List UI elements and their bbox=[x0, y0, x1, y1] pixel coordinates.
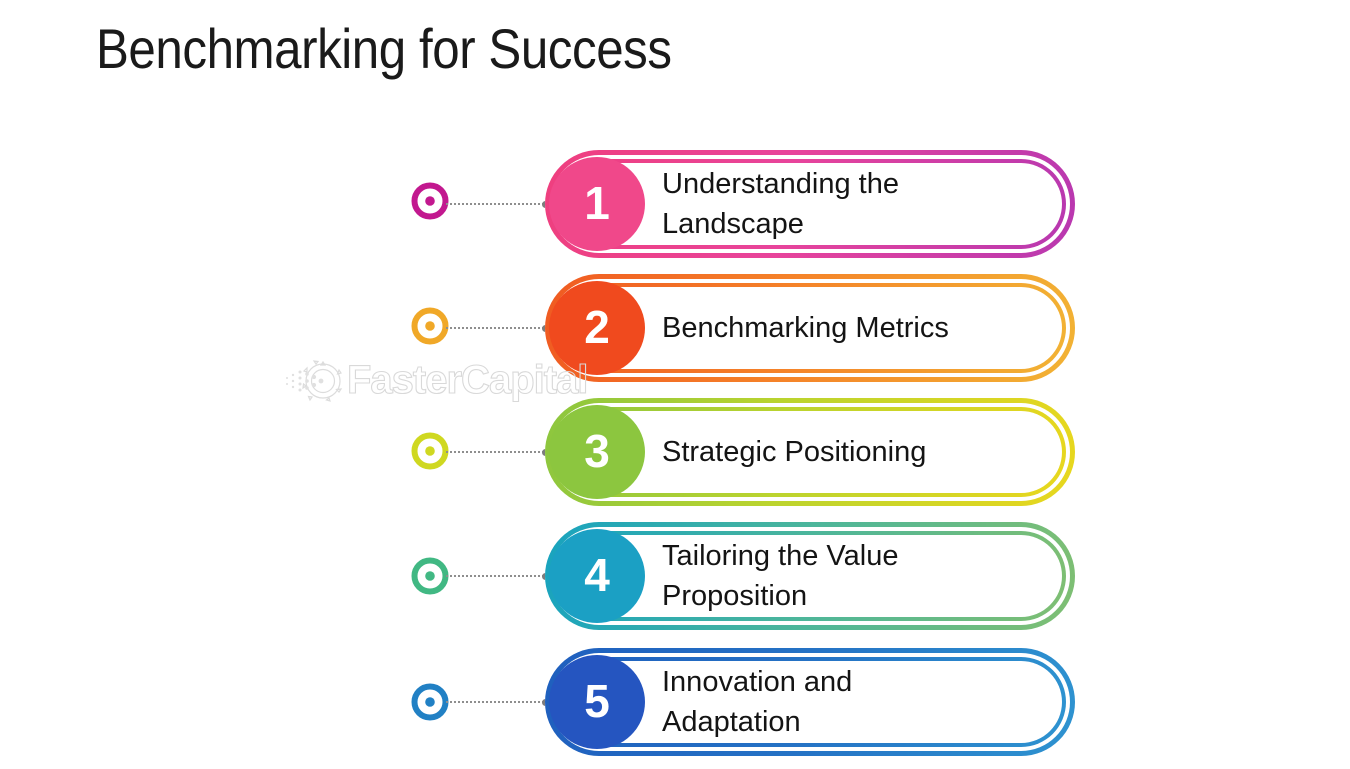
infographic-canvas: Benchmarking for Success bbox=[0, 0, 1350, 769]
page-title: Benchmarking for Success bbox=[96, 14, 672, 84]
item-label-line: Tailoring the Value bbox=[662, 536, 1062, 576]
timeline-item-2[interactable]: 2 Benchmarking Metrics bbox=[0, 274, 1350, 382]
item-label-5: Innovation and Adaptation bbox=[662, 648, 1062, 756]
item-number-1: 1 bbox=[584, 180, 610, 226]
connector-line-2 bbox=[446, 327, 548, 331]
item-label-2: Benchmarking Metrics bbox=[662, 274, 1062, 382]
item-badge-3[interactable]: 3 bbox=[549, 405, 645, 499]
item-badge-5[interactable]: 5 bbox=[549, 655, 645, 749]
connector-line-5 bbox=[446, 701, 548, 705]
connector-line-4 bbox=[446, 575, 548, 579]
item-label-line: Innovation and bbox=[662, 662, 1062, 702]
connector-line-3 bbox=[446, 451, 548, 455]
item-label-line: Proposition bbox=[662, 576, 1062, 616]
item-number-4: 4 bbox=[584, 552, 610, 598]
item-label-3: Strategic Positioning bbox=[662, 398, 1062, 506]
item-badge-1[interactable]: 1 bbox=[549, 157, 645, 251]
item-label-line: Landscape bbox=[662, 204, 1062, 244]
item-label-4: Tailoring the Value Proposition bbox=[662, 522, 1062, 630]
item-number-5: 5 bbox=[584, 678, 610, 724]
item-label-line: Understanding the bbox=[662, 164, 1062, 204]
item-label-line: Strategic Positioning bbox=[662, 432, 1062, 472]
timeline-item-4[interactable]: 4 Tailoring the Value Proposition bbox=[0, 522, 1350, 630]
timeline-item-3[interactable]: 3 Strategic Positioning bbox=[0, 398, 1350, 506]
timeline-item-1[interactable]: 1 Understanding the Landscape bbox=[0, 150, 1350, 258]
item-number-3: 3 bbox=[584, 428, 610, 474]
item-label-1: Understanding the Landscape bbox=[662, 150, 1062, 258]
item-badge-4[interactable]: 4 bbox=[549, 529, 645, 623]
connector-line-1 bbox=[446, 203, 548, 207]
item-label-line: Benchmarking Metrics bbox=[662, 308, 1062, 348]
timeline-item-5[interactable]: 5 Innovation and Adaptation bbox=[0, 648, 1350, 756]
item-label-line: Adaptation bbox=[662, 702, 1062, 742]
item-badge-2[interactable]: 2 bbox=[549, 281, 645, 375]
item-number-2: 2 bbox=[584, 304, 610, 350]
